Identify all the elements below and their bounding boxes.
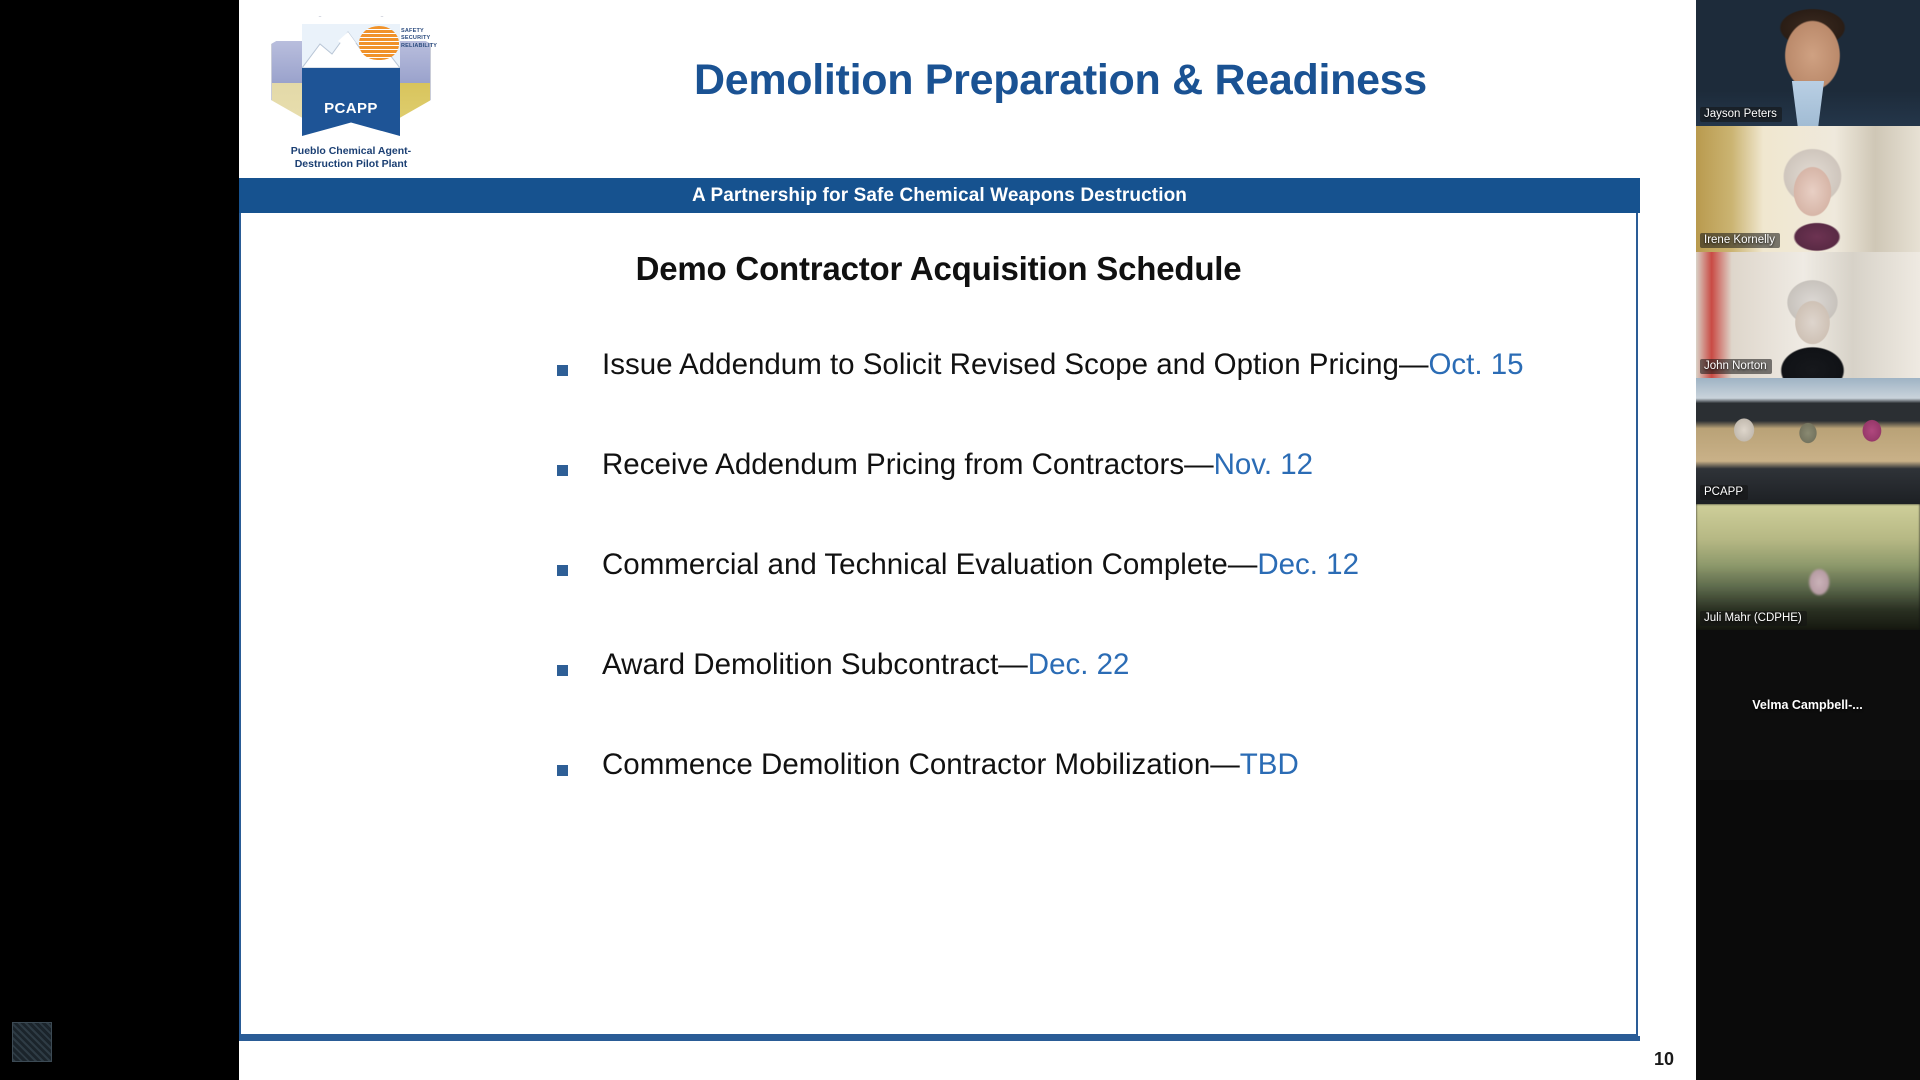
logo-wordmark: PCAPP — [311, 100, 391, 117]
list-item: Receive Addendum Pricing from Contractor… — [239, 450, 1638, 550]
list-item: Commence Demolition Contractor Mobilizat… — [239, 750, 1638, 850]
bullet-date: Dec. 22 — [1028, 648, 1130, 681]
bullet-text: Receive Addendum Pricing from Contractor… — [602, 450, 1313, 481]
bullet-list: Issue Addendum to Solicit Revised Scope … — [239, 350, 1638, 850]
bullet-text: Commence Demolition Contractor Mobilizat… — [602, 750, 1299, 781]
bullet-text: Commercial and Technical Evaluation Comp… — [602, 550, 1359, 581]
bullet-date: Nov. 12 — [1214, 448, 1313, 481]
participant-video-rail: Jayson Peters Irene Kornelly John Norton… — [1696, 0, 1920, 1080]
participant-name: Irene Kornelly — [1700, 233, 1780, 248]
participant-name: Juli Mahr (CDPHE) — [1700, 611, 1807, 626]
pcapp-logo: SAFETYSECURITYRELIABILITY PCAPP Pueblo C… — [271, 8, 431, 173]
list-item: Commercial and Technical Evaluation Comp… — [239, 550, 1638, 650]
bullet-marker-icon — [557, 765, 568, 776]
video-tile-juli-mahr[interactable]: Juli Mahr (CDPHE) — [1696, 504, 1920, 630]
presentation-slide: SAFETYSECURITYRELIABILITY PCAPP Pueblo C… — [239, 0, 1696, 1080]
partnership-banner: A Partnership for Safe Chemical Weapons … — [239, 178, 1640, 213]
panel-bottom-rule — [239, 1036, 1640, 1041]
list-item: Issue Addendum to Solicit Revised Scope … — [239, 350, 1638, 450]
bullet-text: Issue Addendum to Solicit Revised Scope … — [602, 350, 1524, 381]
bullet-date: TBD — [1240, 748, 1299, 781]
bullet-marker-icon — [557, 665, 568, 676]
participant-name: Velma Campbell-... — [1748, 697, 1867, 714]
video-tile-pcapp[interactable]: PCAPP — [1696, 378, 1920, 504]
page-number: 10 — [1654, 1049, 1674, 1070]
slide-heading: Demo Contractor Acquisition Schedule — [239, 250, 1638, 288]
participant-name: Jayson Peters — [1700, 107, 1782, 122]
screen-share-view: SAFETYSECURITYRELIABILITY PCAPP Pueblo C… — [0, 0, 1920, 1080]
logo-caption: Pueblo Chemical Agent-Destruction Pilot … — [271, 145, 431, 171]
logo-hexagons: SAFETYSECURITYRELIABILITY PCAPP — [271, 8, 431, 136]
bullet-marker-icon — [557, 565, 568, 576]
list-item: Award Demolition Subcontract—Dec. 22 — [239, 650, 1638, 750]
bullet-marker-icon — [557, 365, 568, 376]
video-tile-john-norton[interactable]: John Norton — [1696, 252, 1920, 378]
participant-name: John Norton — [1700, 359, 1772, 374]
resize-handle[interactable] — [12, 1022, 52, 1062]
safety-security-reliability-text: SAFETYSECURITYRELIABILITY — [401, 28, 441, 50]
page-title: Demolition Preparation & Readiness — [694, 56, 1427, 105]
bullet-date: Oct. 15 — [1428, 348, 1523, 381]
bullet-date: Dec. 12 — [1257, 548, 1359, 581]
video-tile-velma-campbell[interactable]: Velma Campbell-... — [1696, 630, 1920, 780]
video-tile-irene-kornelly[interactable]: Irene Kornelly — [1696, 126, 1920, 252]
bullet-text: Award Demolition Subcontract—Dec. 22 — [602, 650, 1129, 681]
video-tile-jayson-peters[interactable]: Jayson Peters — [1696, 0, 1920, 126]
participant-name: PCAPP — [1700, 485, 1748, 500]
left-letterbox-gutter — [0, 0, 239, 1080]
bullet-marker-icon — [557, 465, 568, 476]
sun-icon — [359, 26, 399, 60]
